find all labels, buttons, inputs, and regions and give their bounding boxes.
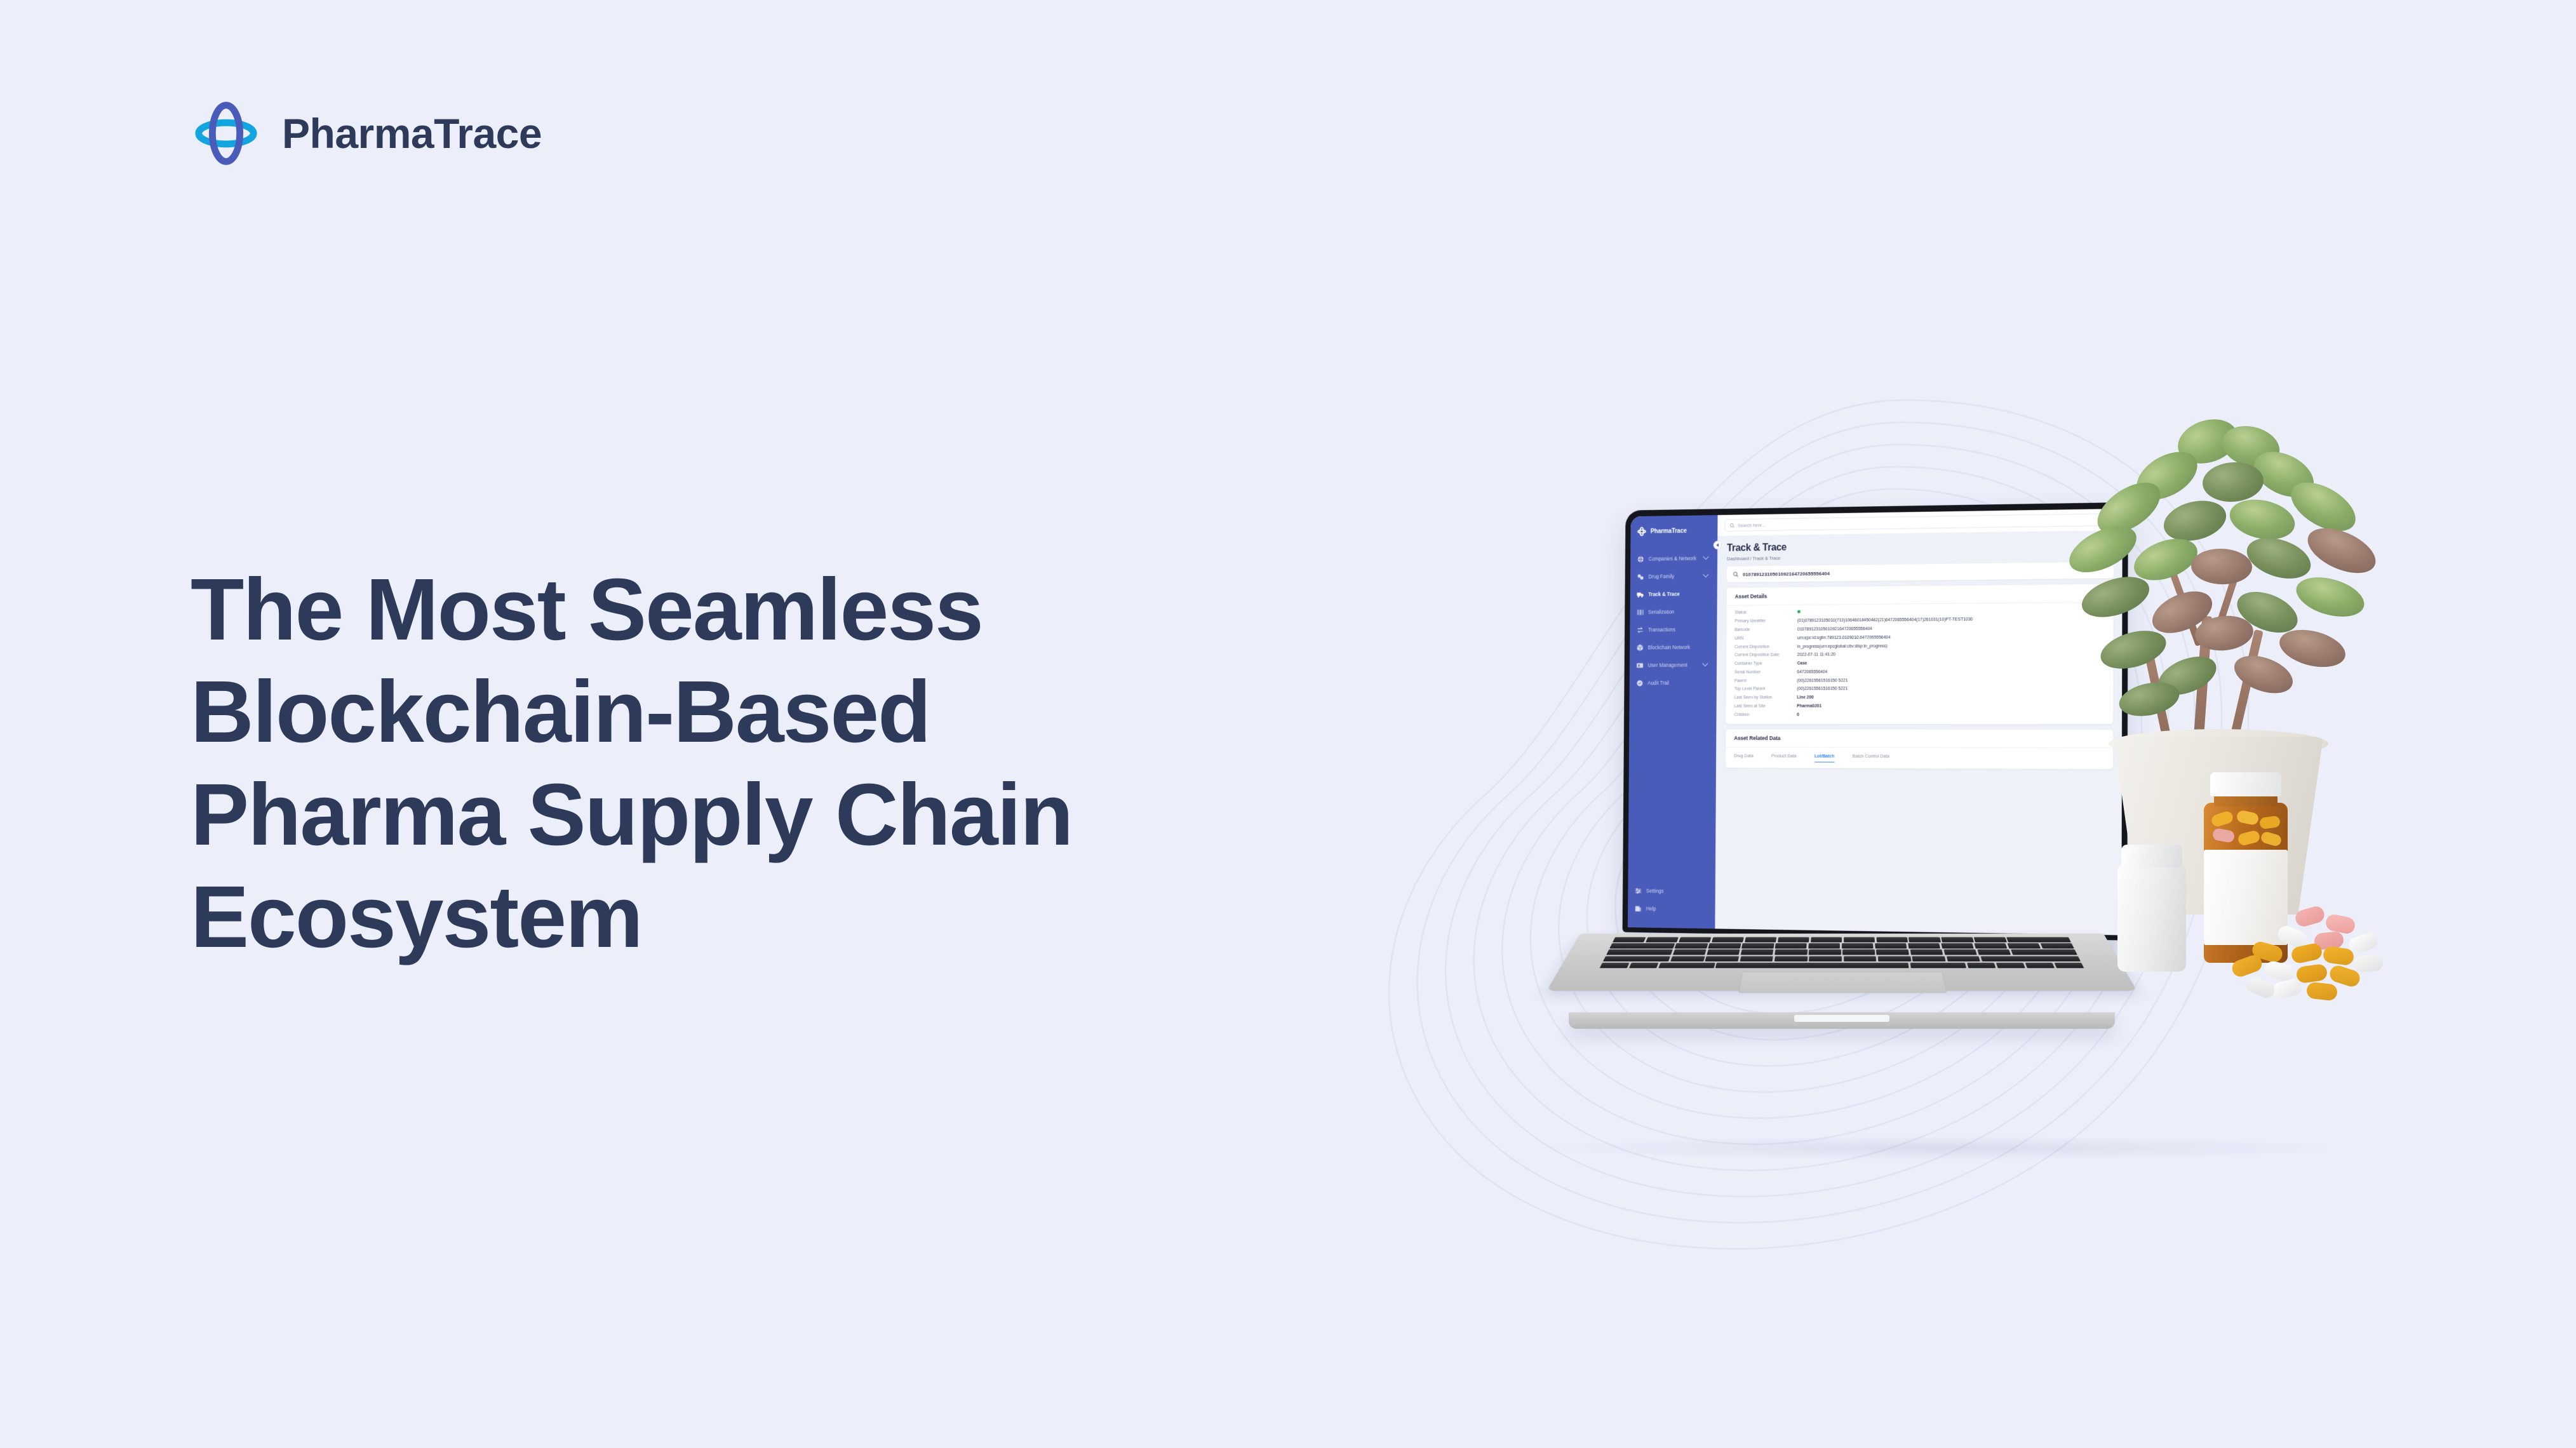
globe-icon [1637, 555, 1644, 563]
headline-line-1: The Most Seamless [191, 559, 1372, 661]
truck-icon [1637, 591, 1644, 599]
key-row [1603, 956, 2081, 962]
sidebar-item-drug-family[interactable]: Drug Family [1630, 567, 1717, 586]
row-value: 6472065556404 [1797, 670, 1828, 674]
sliders-icon [1634, 887, 1642, 895]
tab-product-data[interactable]: Product Data [1771, 753, 1797, 763]
global-search-placeholder: Search here... [1738, 522, 1766, 528]
orbit-atom-icon [188, 95, 264, 171]
headline-line-3: Pharma Supply Chain [191, 764, 1372, 866]
sidebar-item-label: Serialization [1648, 609, 1674, 615]
row-key: Last Seen by Station [1734, 695, 1797, 700]
laptop-trackpad [1738, 972, 1947, 993]
key-row [1606, 949, 2077, 955]
row-key: Current Disposition [1734, 645, 1797, 649]
clipboard-check-icon [1636, 679, 1644, 687]
laptop-keyboard [1599, 937, 2084, 969]
key-row [1613, 937, 2071, 942]
row-value: (00)22615561516150 5221 [1797, 687, 1848, 692]
sidebar-bottom-nav: Settings Help [1628, 882, 1715, 919]
cube-icon [1636, 644, 1644, 652]
search-icon [1733, 571, 1738, 577]
bottle-label [2204, 850, 2288, 945]
white-bottle-cap [2121, 845, 2182, 868]
laptop-base [1556, 922, 2128, 1030]
key-row [1609, 943, 2074, 948]
sidebar-item-label: Audit Trail [1647, 680, 1669, 686]
white-bottle-body [2117, 865, 2186, 972]
asset-search-value: 01078912310501092164720655556404 [1743, 570, 1830, 577]
sidebar-item-serialization[interactable]: Serialization [1630, 603, 1717, 621]
sidebar-brand-label: PharmaTrace [1651, 528, 1687, 535]
headline-line-2: Blockchain-Based [191, 661, 1372, 763]
tab-drug-data[interactable]: Drug Data [1734, 753, 1754, 763]
row-key: Status [1735, 610, 1798, 615]
sidebar-item-label: Companies & Network [1649, 556, 1696, 562]
row-key: Last Seen at Site [1734, 704, 1797, 709]
exchange-icon [1636, 626, 1644, 634]
sidebar-item-label: Track & Trace [1648, 591, 1679, 597]
row-key: Container Type [1734, 662, 1797, 666]
chevron-left-icon [1716, 543, 1719, 547]
chevron-down-icon [1703, 554, 1708, 560]
sidebar-item-label: User Management [1647, 662, 1687, 668]
bottle-cap [2210, 772, 2281, 796]
row-value: Pharma0201 [1797, 704, 1821, 709]
status-dot-icon [1797, 610, 1801, 613]
sidebar-item-blockchain-network[interactable]: Blockchain Network [1630, 638, 1717, 657]
row-key: URN [1734, 636, 1797, 640]
brand-name: PharmaTrace [282, 109, 542, 158]
sidebar-item-user-management[interactable]: User Management [1630, 656, 1717, 674]
sidebar-item-help[interactable]: Help [1628, 900, 1715, 919]
row-value: (00)22615561516150 5221 [1797, 678, 1848, 683]
chevron-down-icon [1702, 660, 1708, 667]
row-value: in_progress(urn:epcglobal:cbv:disp:in_pr… [1797, 644, 1888, 649]
small-white-bottle [2117, 845, 2186, 972]
tab-lot-batch[interactable]: Lot/Batch [1815, 753, 1835, 763]
sidebar-item-label: Transactions [1648, 627, 1675, 633]
row-key: Parent [1734, 678, 1797, 683]
sidebar-nav: Companies & Network Drug Family Track [1630, 549, 1718, 692]
orbit-atom-icon [1637, 526, 1647, 537]
sidebar-item-audit-trail[interactable]: Audit Trail [1630, 674, 1717, 692]
row-key: Current Disposition Date [1734, 653, 1797, 657]
brand-logo[interactable]: PharmaTrace [188, 95, 542, 171]
laptop-front-edge [1569, 1012, 2115, 1029]
medicine-props [2102, 749, 2420, 1016]
row-value: Case [1797, 661, 1808, 666]
row-key: Serial Number [1734, 670, 1797, 674]
hero-page: PharmaTrace The Most Seamless Blockchain… [0, 0, 2576, 1448]
hero-illustration: PharmaTrace Companies & Network [1283, 356, 2553, 1308]
user-card-icon [1636, 662, 1644, 670]
row-value: 2022-07-11 11:41:20 [1797, 653, 1836, 657]
help-book-icon [1634, 905, 1642, 913]
app-sidebar: PharmaTrace Companies & Network [1628, 515, 1718, 928]
status-badge [1797, 610, 1801, 615]
search-icon [1729, 523, 1734, 528]
sidebar-item-companies-network[interactable]: Companies & Network [1630, 549, 1717, 568]
page-title: The Most Seamless Blockchain-Based Pharm… [191, 559, 1372, 969]
row-key: Primary Identifier [1734, 619, 1797, 624]
headline-line-4: Ecosystem [191, 866, 1372, 969]
sidebar-brand[interactable]: PharmaTrace [1630, 523, 1717, 537]
row-key: Top Level Parent [1734, 687, 1797, 692]
pills-icon [1637, 573, 1644, 581]
sidebar-item-settings[interactable]: Settings [1628, 882, 1715, 901]
row-value: Line 200 [1797, 695, 1813, 700]
sidebar-item-label: Drug Family [1648, 574, 1674, 580]
sidebar-item-transactions[interactable]: Transactions [1630, 620, 1717, 639]
bottle-contents [2209, 810, 2283, 852]
sidebar-item-label: Settings [1646, 888, 1663, 894]
laptop-lip-notch [1794, 1015, 1889, 1022]
chevron-down-icon [1703, 572, 1708, 578]
row-value: urn:epc:id:sgtin:789123.0109010.64720655… [1797, 635, 1891, 640]
sidebar-item-label: Blockchain Network [1648, 645, 1691, 650]
row-value: (01)0789123105010(713)10646018450482(21)… [1797, 617, 1973, 623]
row-value: 01078912310501092164720655556404 [1797, 627, 1872, 632]
sidebar-item-track-trace[interactable]: Track & Trace [1630, 585, 1717, 603]
row-value: 0 [1797, 713, 1799, 717]
barcode-icon [1637, 608, 1644, 617]
laptop-keyboard-deck [1546, 934, 2137, 991]
row-key: Children [1734, 713, 1797, 717]
key-row [1599, 963, 2084, 969]
row-key: Barcode [1734, 627, 1797, 632]
sidebar-item-label: Help [1646, 906, 1656, 912]
tab-batch-control-data[interactable]: Batch Control Data [1853, 753, 1889, 763]
